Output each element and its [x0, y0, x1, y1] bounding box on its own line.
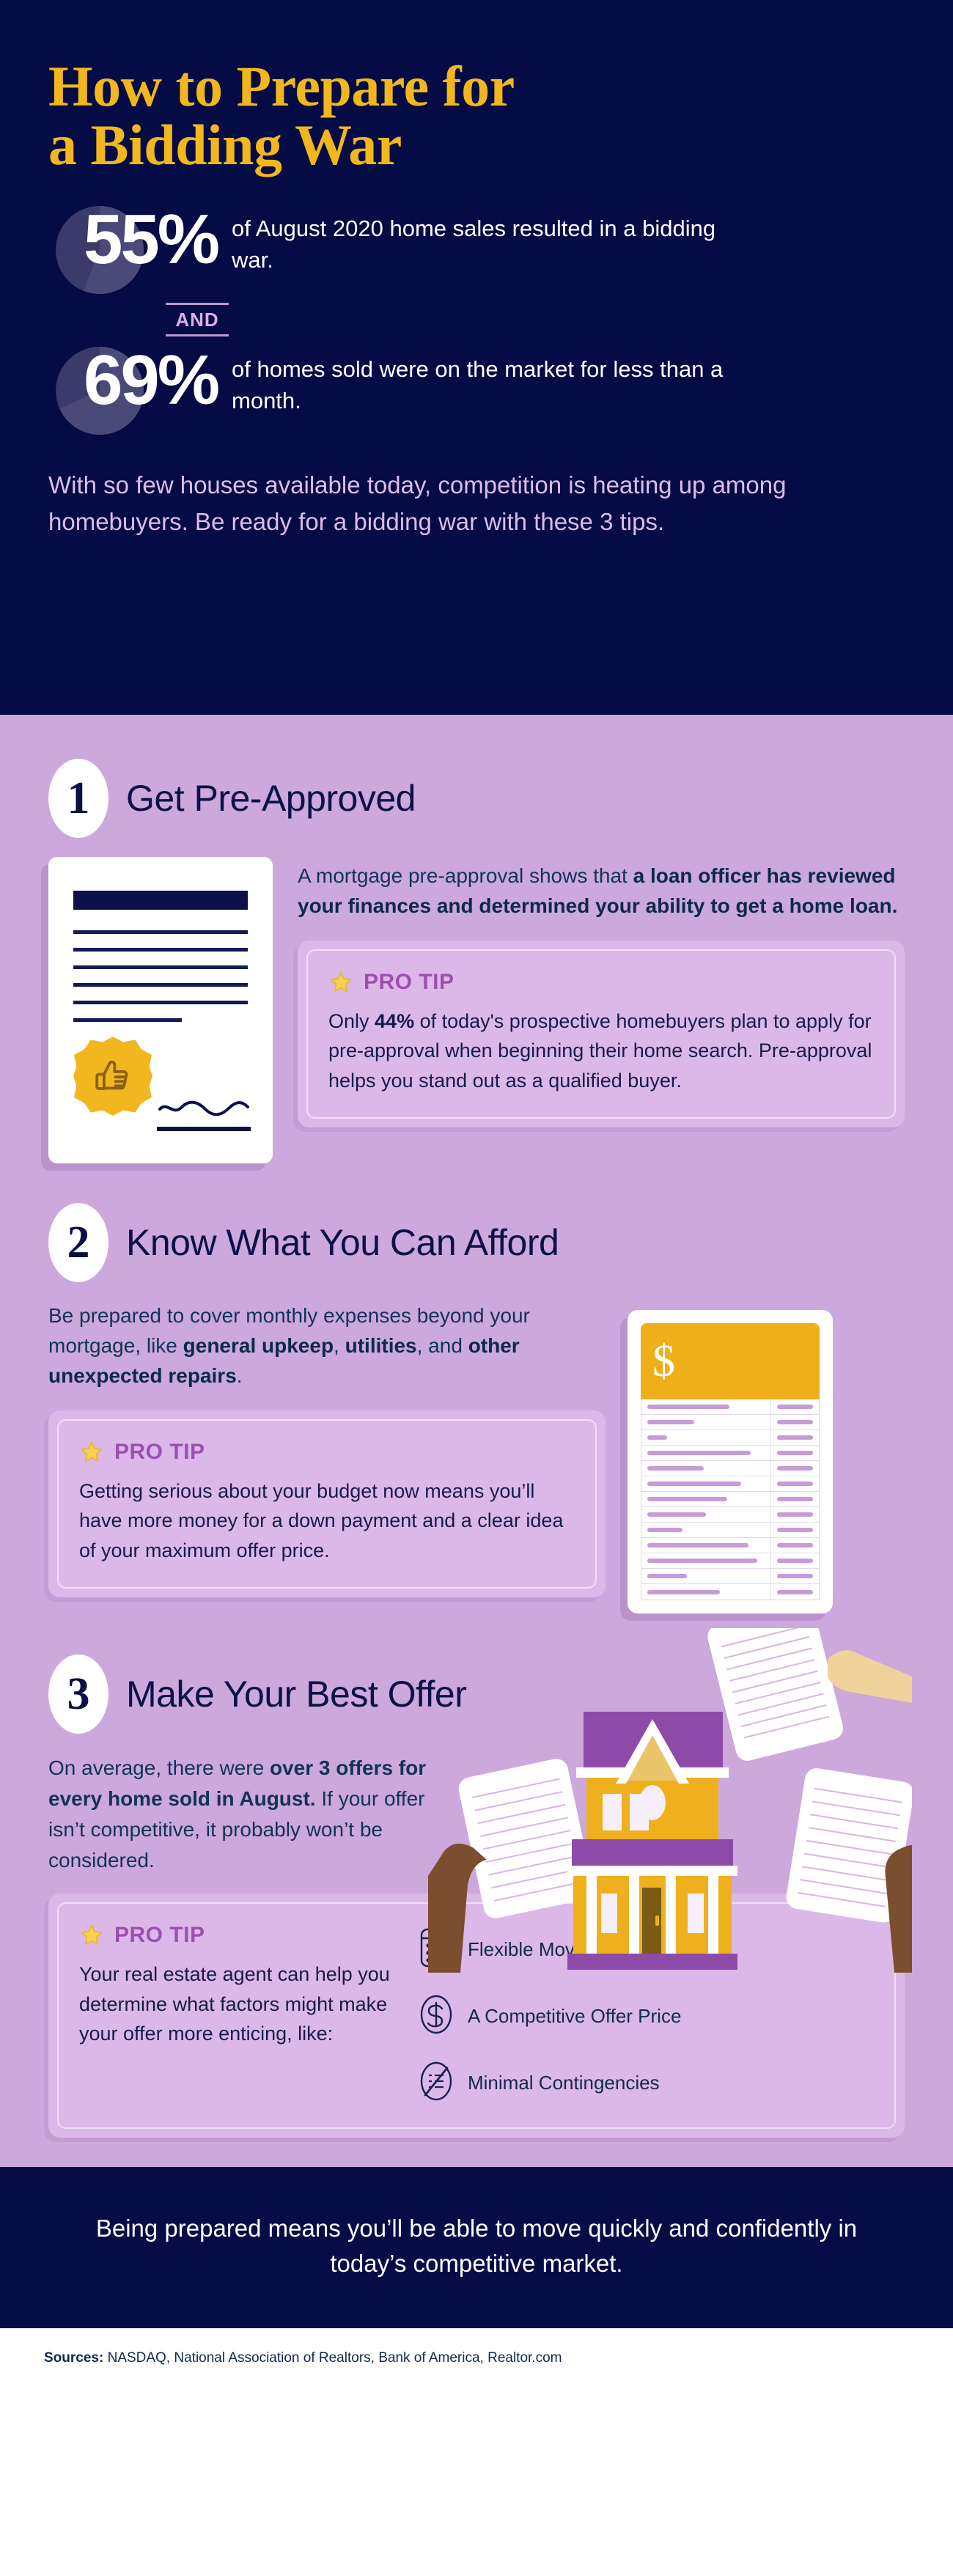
section-3-protip-body: Your real estate agent can help you dete…	[79, 1959, 394, 2049]
hero-section: How to Prepare for a Bidding War 55% of …	[0, 0, 953, 715]
no-contingency-icon	[419, 2061, 453, 2105]
budget-row	[641, 1476, 819, 1492]
budget-row	[641, 1446, 819, 1461]
budget-row	[641, 1399, 819, 1415]
signature-line	[157, 1127, 251, 1131]
document-header-bar	[73, 891, 248, 910]
budget-row	[641, 1538, 819, 1553]
section-1-body-plain-1: A mortgage pre-approval shows that	[298, 864, 633, 887]
budget-dollar-sign: $	[641, 1323, 820, 1399]
section-2-body-plain-3: , and	[417, 1334, 468, 1357]
hero-lede: With so few houses available today, comp…	[48, 467, 847, 540]
signature-squiggle-icon	[157, 1100, 251, 1116]
section-1-number: 1	[48, 759, 108, 838]
list-item-label: A Competitive Offer Price	[468, 2005, 681, 2028]
list-item: Flexible Move-In Dates	[419, 1927, 874, 1972]
section-1-protip: PRO TIP Only 44% of today's prospective …	[298, 941, 905, 1128]
stat-row-1: 55% of August 2020 home sales resulted i…	[48, 205, 905, 292]
budget-rows	[641, 1399, 820, 1600]
star-icon	[79, 1923, 104, 1948]
section-2-body-bold-1: general upkeep	[183, 1334, 334, 1357]
document-line	[73, 948, 248, 952]
budget-row	[641, 1523, 819, 1538]
sources-line: Sources: NASDAQ, National Association of…	[0, 2328, 953, 2385]
section-1-title: Get Pre-Approved	[126, 777, 416, 820]
list-item-label: Minimal Contingencies	[468, 2072, 660, 2094]
section-3-body-plain-1: On average, there were	[48, 1756, 270, 1779]
section-1-protip-body: Only 44% of today's prospective homebuye…	[328, 1007, 874, 1096]
section-2-body-bold-2: utilities	[345, 1334, 417, 1357]
section-2-body-plain-4: .	[237, 1364, 243, 1387]
budget-row	[641, 1461, 819, 1476]
section-1-header: 1 Get Pre-Approved	[48, 759, 905, 838]
budget-row	[641, 1584, 819, 1600]
section-3-title: Make Your Best Offer	[126, 1673, 466, 1715]
and-rule-bottom	[166, 334, 229, 336]
list-item-label: Flexible Move-In Dates	[468, 1938, 663, 1961]
section-2-protip-body: Getting serious about your budget now me…	[79, 1476, 575, 1566]
sources-label: Sources:	[44, 2350, 103, 2366]
section-3-header: 3 Make Your Best Offer	[48, 1655, 905, 1734]
section-3-protip: PRO TIP Your real estate agent can help …	[48, 1894, 905, 2138]
section-2-number: 2	[48, 1203, 108, 1282]
infographic-page: How to Prepare for a Bidding War 55% of …	[0, 0, 953, 2576]
page-title: How to Prepare for a Bidding War	[48, 57, 905, 174]
document-line	[73, 1018, 182, 1022]
star-icon	[328, 970, 353, 995]
stat-row-2: 69% of homes sold were on the market for…	[48, 345, 905, 433]
tips-section: 1 Get Pre-Approved	[0, 715, 953, 2167]
list-item: A Competitive Offer Price	[419, 1994, 874, 2039]
protip-1-plain-1: Only	[328, 1010, 375, 1032]
stat-value-1: 55%	[48, 205, 232, 275]
budget-row	[641, 1569, 819, 1584]
page-title-line-1: How to Prepare for	[48, 57, 905, 116]
budget-row	[641, 1430, 819, 1446]
section-1-protip-label: PRO TIP	[364, 970, 455, 995]
closing-banner: Being prepared means you’ll be able to m…	[0, 2167, 953, 2328]
budget-row	[641, 1415, 819, 1430]
section-3-body: On average, there were over 3 offers for…	[48, 1753, 430, 1876]
section-1-content: A mortgage pre-approval shows that a loa…	[48, 857, 905, 1163]
list-item: Minimal Contingencies	[419, 2061, 874, 2105]
thumbs-up-seal-icon	[73, 1037, 152, 1116]
star-icon	[79, 1440, 104, 1465]
section-2-protip-label: PRO TIP	[114, 1440, 205, 1465]
sources-text: NASDAQ, National Association of Realtors…	[103, 2350, 562, 2366]
stat-text-1: of August 2020 home sales resulted in a …	[232, 205, 737, 276]
document-line	[73, 1001, 248, 1004]
stat-value-2: 69%	[48, 345, 232, 416]
section-3-protip-label: PRO TIP	[114, 1923, 205, 1948]
section-2-body-plain-2: ,	[334, 1334, 345, 1357]
section-2-content: Be prepared to cover monthly expenses be…	[48, 1301, 905, 1613]
budget-row	[641, 1553, 819, 1569]
protip-1-bold-1: 44%	[375, 1010, 414, 1032]
dollar-circle-icon	[419, 1994, 453, 2039]
signature-area	[157, 1100, 251, 1131]
preapproval-document-illustration	[48, 857, 273, 1163]
section-3-number: 3	[48, 1655, 108, 1734]
section-2-protip: PRO TIP Getting serious about your budge…	[48, 1410, 606, 1598]
calendar-icon	[419, 1927, 453, 1972]
document-line	[73, 983, 248, 987]
document-line	[73, 965, 248, 969]
section-2-body: Be prepared to cover monthly expenses be…	[48, 1301, 606, 1391]
stat-text-2: of homes sold were on the market for les…	[232, 345, 737, 417]
section-2-title: Know What You Can Afford	[126, 1221, 559, 1264]
and-divider: AND	[166, 303, 229, 336]
budget-row	[641, 1507, 819, 1523]
budget-row	[641, 1492, 819, 1507]
offer-factors-list: Flexible Move-In Dates	[419, 1923, 874, 2105]
closing-text: Being prepared means you’ll be able to m…	[66, 2211, 887, 2281]
budget-sheet-illustration: $	[628, 1310, 833, 1613]
and-label: AND	[166, 305, 229, 334]
section-1-body: A mortgage pre-approval shows that a loa…	[298, 861, 905, 921]
page-title-line-2: a Bidding War	[48, 116, 905, 174]
document-line	[73, 930, 248, 934]
section-2-header: 2 Know What You Can Afford	[48, 1203, 905, 1282]
